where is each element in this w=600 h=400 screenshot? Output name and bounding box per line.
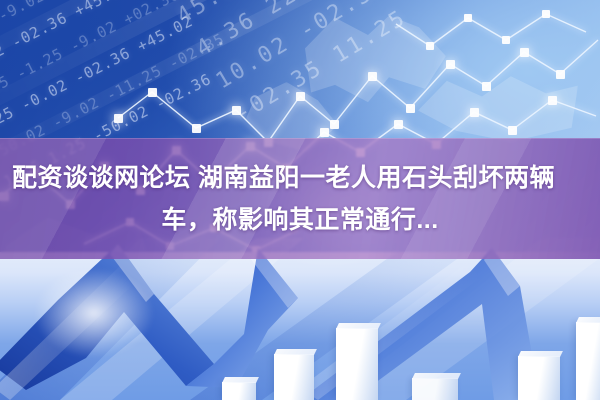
- bar-column: [412, 378, 458, 400]
- lens-flare: [34, 268, 154, 358]
- bar-column: [518, 356, 560, 400]
- bar-column: [222, 382, 256, 400]
- thumbnail-canvas: -0.05 -1.25 -9.02 +02.36 1.16 1.25 -50.0…: [0, 0, 600, 400]
- headline-line-1: 配资谈谈网论坛 湖南益阳一老人用石头刮坏两辆: [12, 157, 588, 199]
- bar-column: [576, 322, 600, 400]
- bar-column: [274, 354, 314, 400]
- headline-line-2: 车，称影响其正常通行...: [12, 199, 588, 241]
- headline-text: 配资谈谈网论坛 湖南益阳一老人用石头刮坏两辆 车，称影响其正常通行...: [0, 138, 600, 259]
- bar-column: [336, 328, 378, 400]
